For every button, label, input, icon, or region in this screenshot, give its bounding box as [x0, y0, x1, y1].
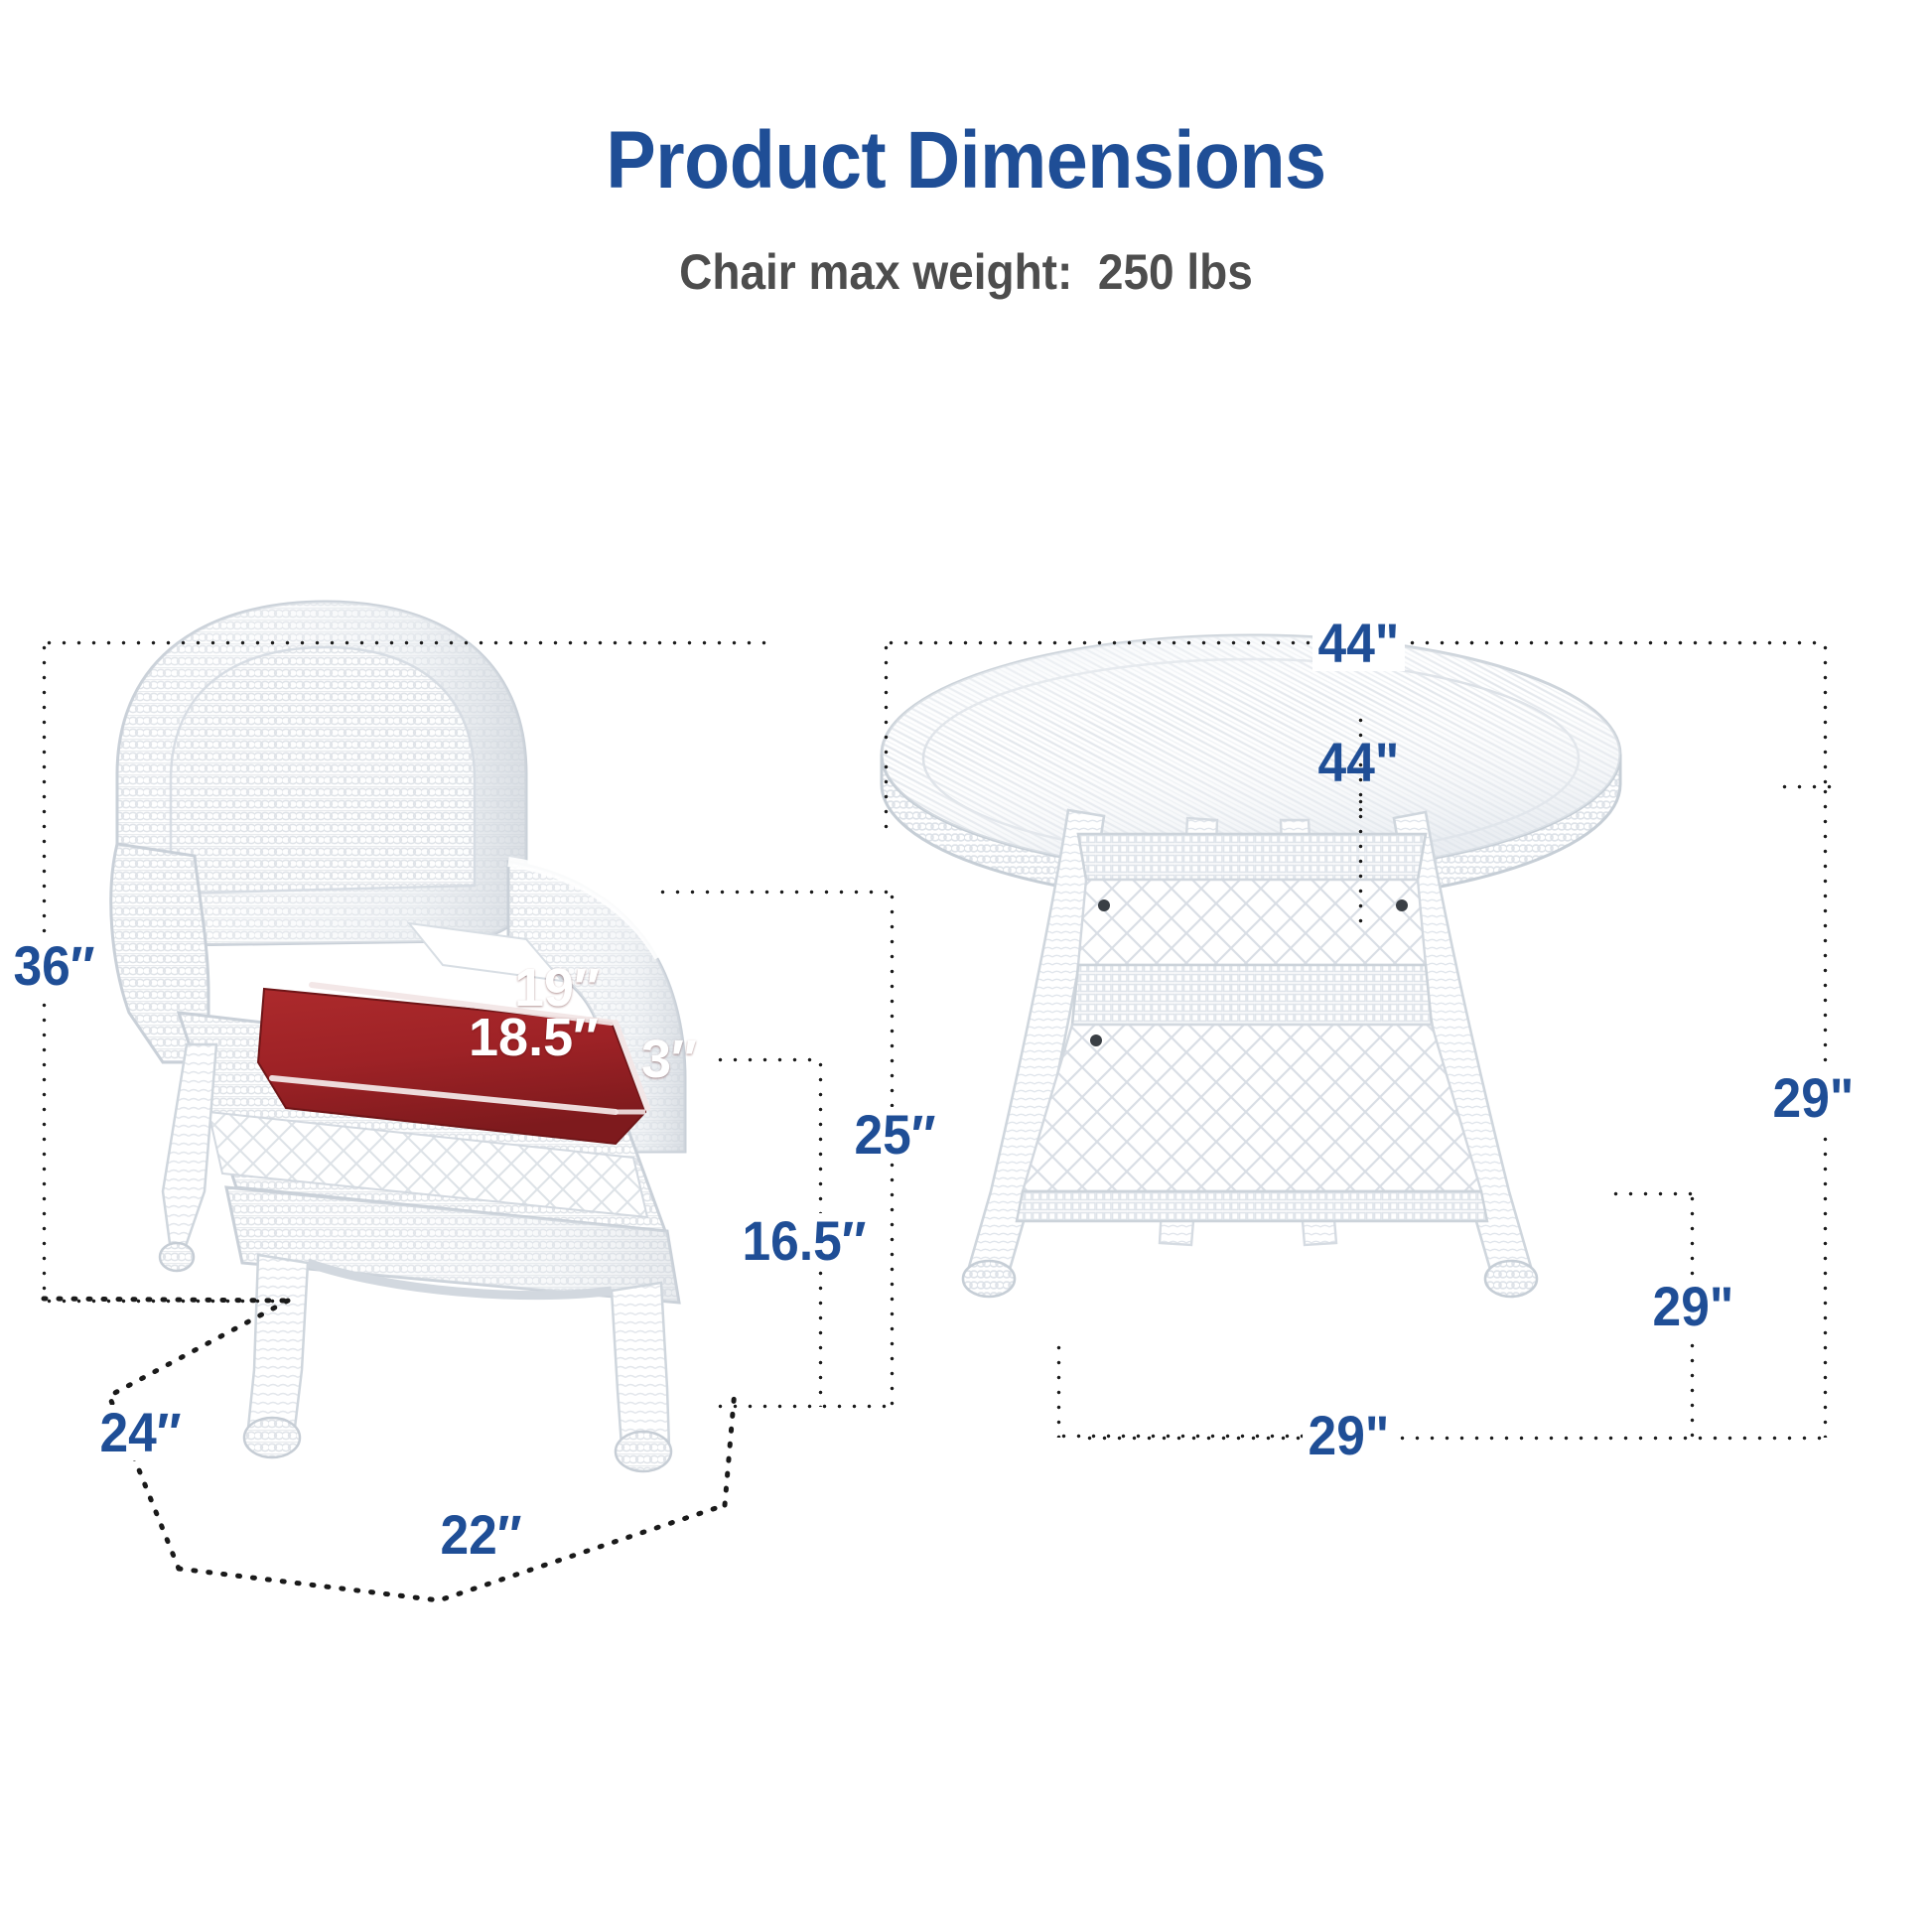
chair-height-guide-top — [42, 640, 766, 645]
chair-width-label: 22″ — [435, 1507, 527, 1563]
chair-height-label: 36″ — [8, 938, 100, 994]
table-top-diameter-label: 44" — [1312, 616, 1405, 671]
table-depth-guide-center-lower — [1358, 794, 1363, 923]
max-weight-subtitle: Chair max weight: 250 lbs — [77, 243, 1855, 301]
round-wicker-table-illustration — [874, 635, 1628, 1469]
table-height-label: 29" — [1767, 1070, 1860, 1126]
table-base-width-label: 29" — [1303, 1408, 1395, 1463]
table-base-height-guide-top — [1608, 1191, 1694, 1196]
page-title: Product Dimensions — [77, 114, 1855, 207]
table-base-width-guide-left — [1056, 1340, 1061, 1438]
table-base-height-label: 29" — [1647, 1279, 1739, 1334]
chair-seat-height-guide-top — [713, 1057, 822, 1062]
table-diameter-guide-right — [1823, 640, 1828, 784]
table-base-width-guide-bottom-left — [1056, 1434, 1326, 1439]
table-top-depth-label: 44" — [1312, 735, 1405, 790]
cushion-back-width-label: 19″ — [514, 961, 600, 1015]
table-base-height-guide — [1690, 1191, 1695, 1279]
table-diameter-guide-left — [884, 640, 889, 829]
table-height-guide-right-lower — [1823, 1132, 1828, 1438]
table-height-guide-right — [1823, 784, 1828, 1092]
cushion-thickness-label: 3″ — [641, 1033, 697, 1086]
table-base-height-guide-lower — [1690, 1338, 1695, 1438]
chair-arm-height-guide-top — [655, 890, 894, 895]
chair-depth-label: 24″ — [94, 1405, 187, 1460]
cushion-depth-label: 18.5″ — [469, 1011, 599, 1064]
chair-seat-height-label: 16.5″ — [737, 1213, 872, 1269]
product-dimensions-diagram: Product Dimensions Chair max weight: 250… — [0, 0, 1932, 1932]
table-diameter-guide-top-right — [1449, 640, 1827, 645]
